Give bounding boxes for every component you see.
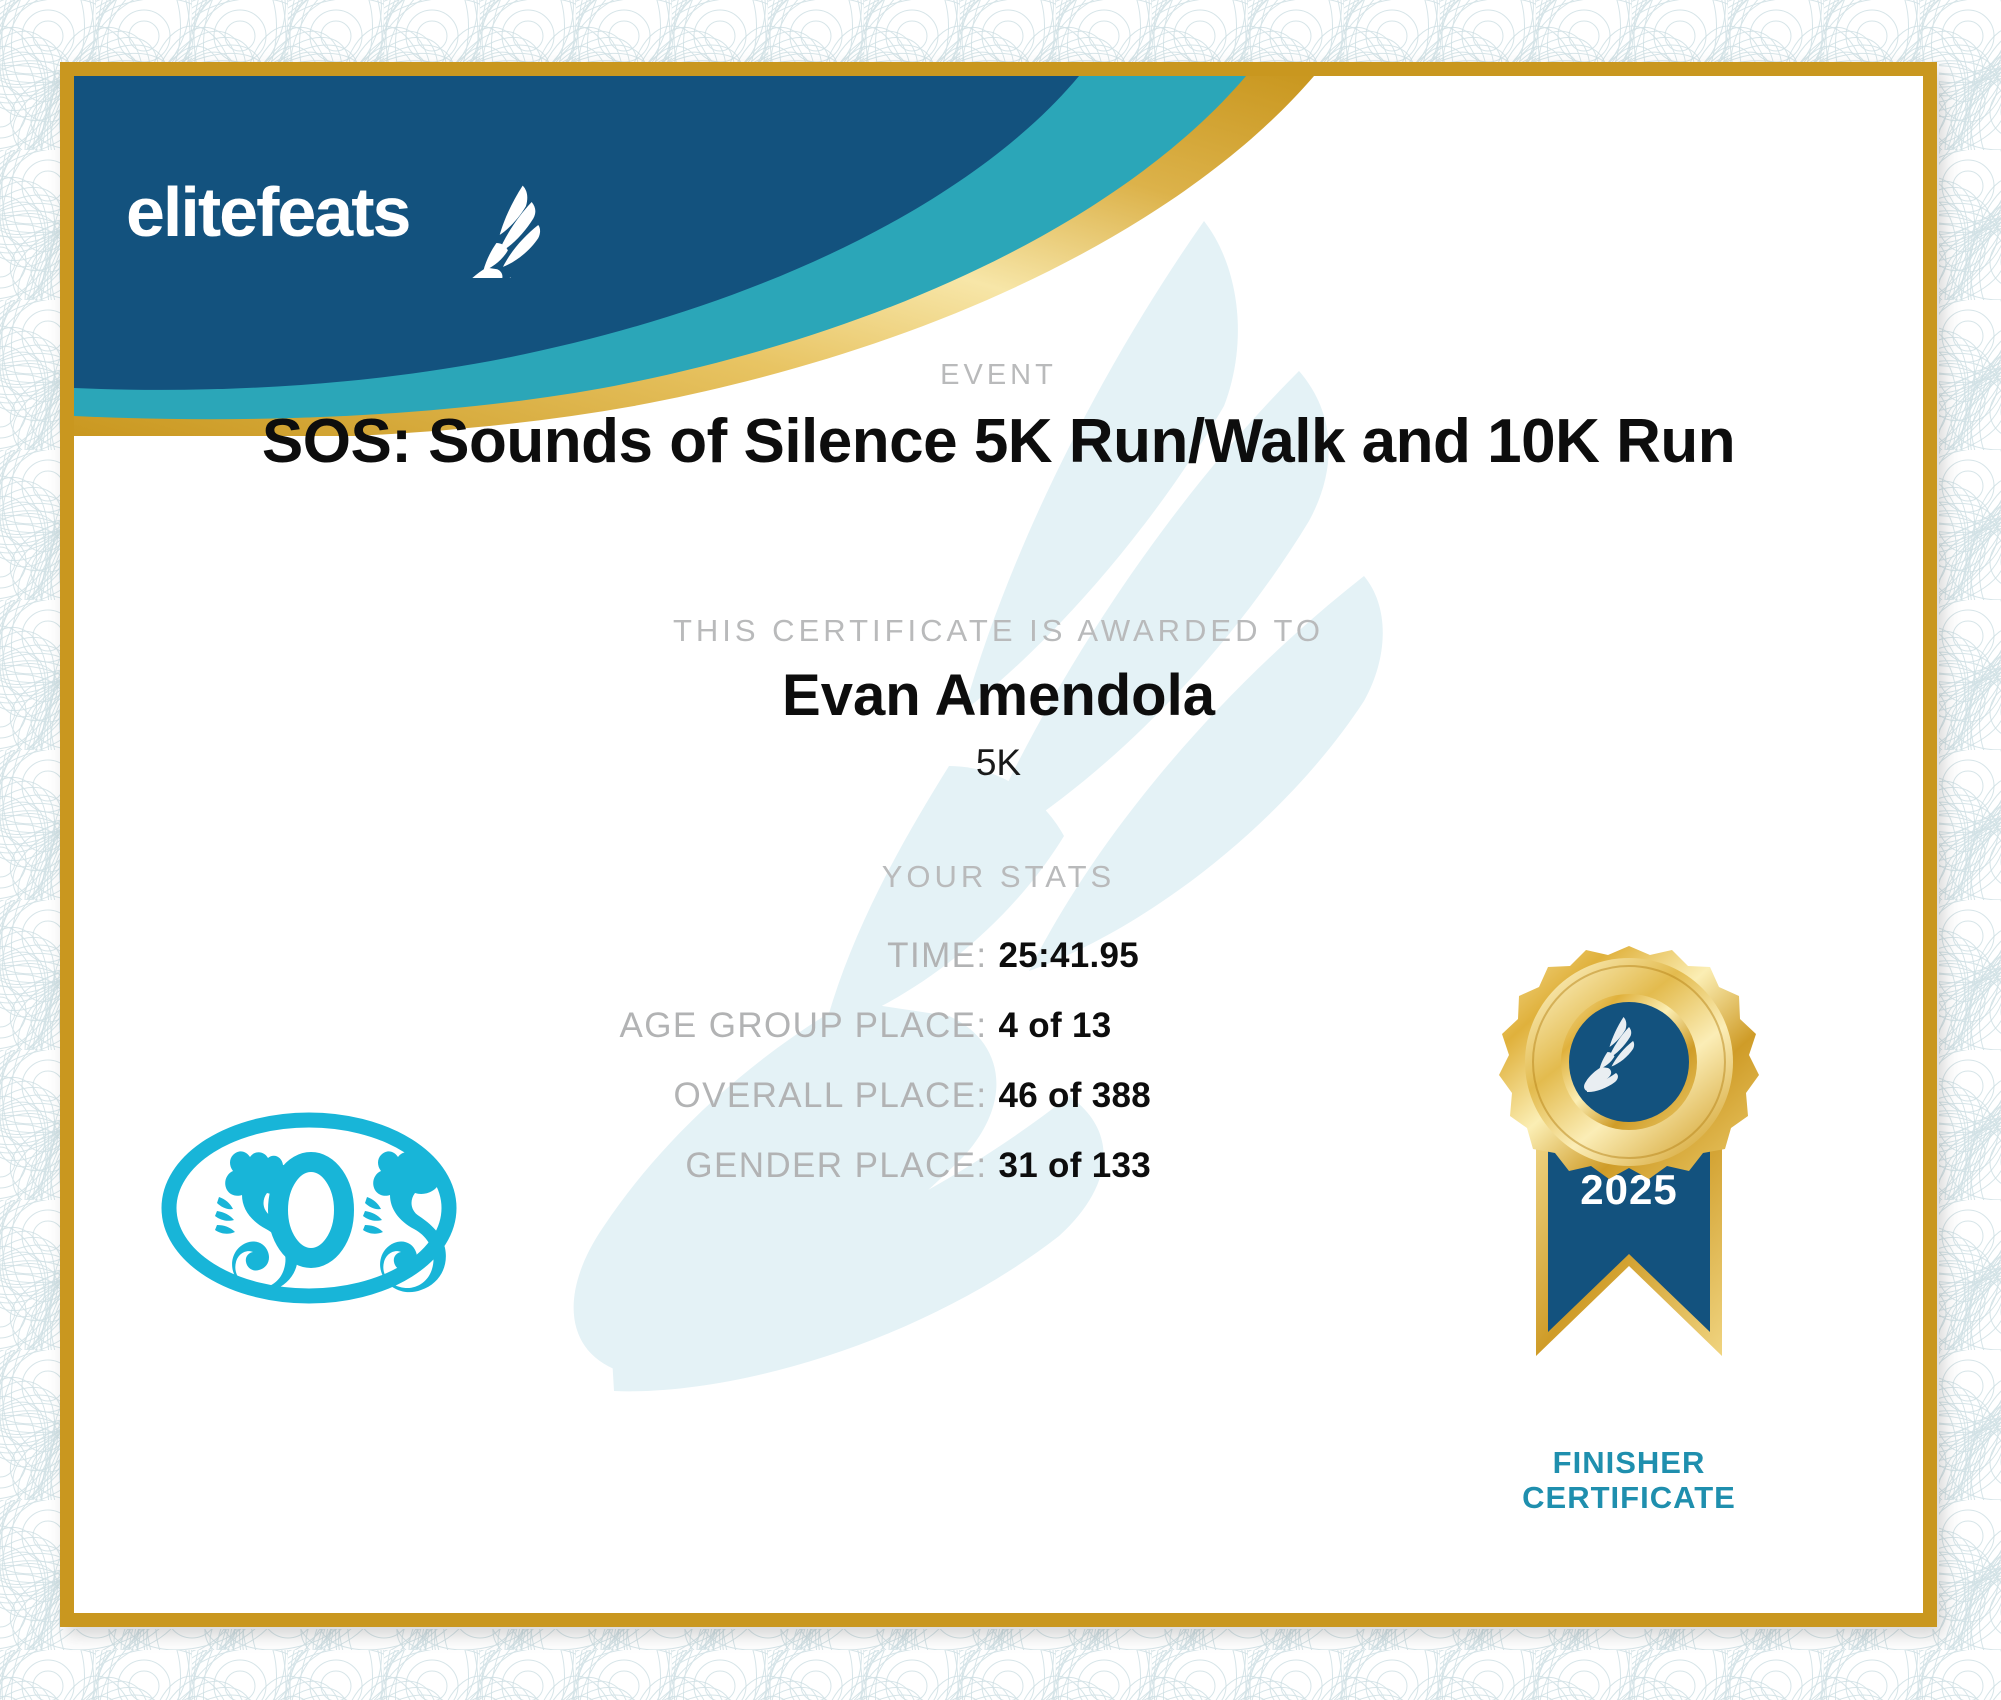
winged-foot-icon xyxy=(458,186,540,278)
stat-value-overall-place: 46 of 388 xyxy=(999,1076,1555,1116)
stat-value-gender-place: 31 of 133 xyxy=(999,1146,1555,1186)
recipient-name: Evan Amendola xyxy=(74,662,1923,729)
stat-label-gender-place: GENDER PLACE: xyxy=(443,1146,999,1186)
stat-value-age-group-place: 4 of 13 xyxy=(999,1006,1555,1046)
stat-value-time: 25:41.95 xyxy=(999,936,1555,976)
stat-label-overall-place: OVERALL PLACE: xyxy=(443,1076,999,1116)
medal-caption: FINISHER CERTIFICATE xyxy=(1474,1446,1784,1515)
medal-year: 2025 xyxy=(1580,1166,1677,1213)
event-label: EVENT xyxy=(74,359,1923,392)
elitefeats-wordmark: elitefeats xyxy=(126,173,410,251)
elitefeats-logo: elitefeats xyxy=(126,168,566,278)
event-title: SOS: Sounds of Silence 5K Run/Walk and 1… xyxy=(74,406,1923,477)
stat-label-time: TIME: xyxy=(443,936,999,976)
certificate-card: elitefeats EVENT SOS: Sounds of Silence … xyxy=(60,62,1937,1627)
stat-label-age-group-place: AGE GROUP PLACE: xyxy=(443,1006,999,1046)
medal-caption-line1: FINISHER xyxy=(1474,1446,1784,1481)
certificate-page: elitefeats EVENT SOS: Sounds of Silence … xyxy=(0,0,2001,1700)
medal-disc xyxy=(1499,946,1759,1179)
sos-letter-o xyxy=(278,1162,344,1258)
finisher-medal: 2025 xyxy=(1474,936,1784,1436)
sos-seahorse-oval-logo xyxy=(159,1111,459,1306)
race-distance: 5K xyxy=(74,742,1923,784)
medal-caption-line2: CERTIFICATE xyxy=(1474,1481,1784,1516)
awarded-to-label: THIS CERTIFICATE IS AWARDED TO xyxy=(74,613,1923,649)
your-stats-label: YOUR STATS xyxy=(74,859,1923,895)
